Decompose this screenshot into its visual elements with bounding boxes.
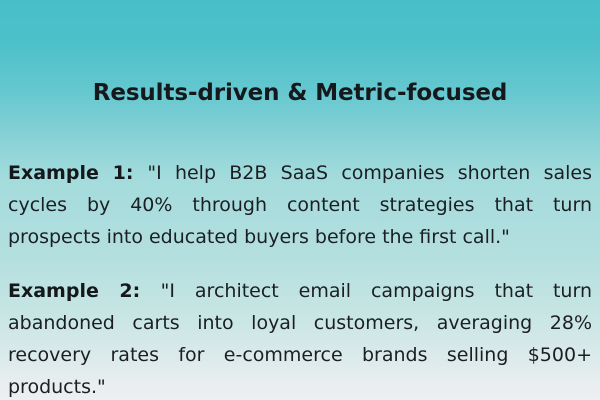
example-1-label: Example 1: [8,162,147,184]
list-item: Example 2: "I architect email campaigns … [8,275,592,400]
page-title: Results-driven & Metric-focused [0,78,600,108]
example-2-label: Example 2: [8,280,161,302]
examples-list: Example 1: "I help B2B SaaS companies sh… [8,157,592,400]
slide-canvas: Results-driven & Metric-focused Example … [0,0,600,400]
list-item: Example 1: "I help B2B SaaS companies sh… [8,157,592,253]
